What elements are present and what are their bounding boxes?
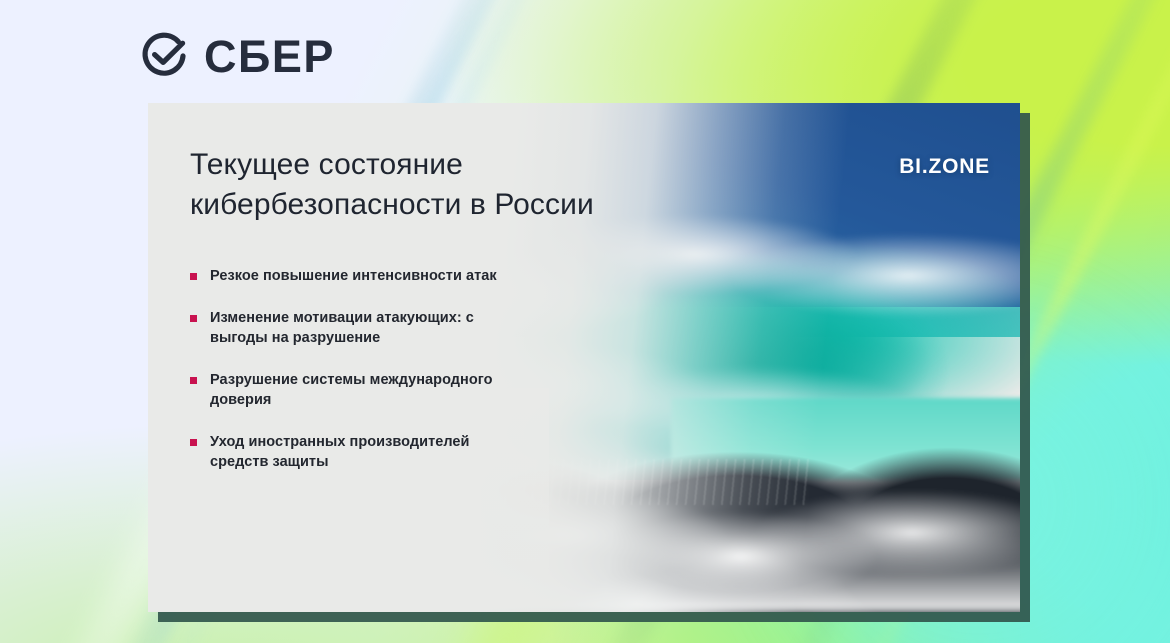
list-item-label: Изменение мотивации атакующих: с выгоды …: [210, 308, 520, 349]
bullet-marker-icon: [190, 315, 197, 322]
bizone-logo: BI.ZONE: [899, 155, 990, 179]
presentation-slide: Текущее состояние кибербезопасности в Ро…: [148, 103, 1020, 612]
sber-wordmark: СБЕР: [204, 34, 335, 79]
bullet-marker-icon: [190, 377, 197, 384]
list-item: Разрушение системы международного довери…: [190, 370, 520, 411]
list-item: Резкое повышение интенсивности атак: [190, 266, 520, 287]
bullet-marker-icon: [190, 439, 197, 446]
slide-content: Текущее состояние кибербезопасности в Ро…: [148, 103, 1020, 612]
bullet-list: Резкое повышение интенсивности атак Изме…: [190, 266, 520, 494]
list-item: Изменение мотивации атакующих: с выгоды …: [190, 308, 520, 349]
list-item-label: Разрушение системы международного довери…: [210, 370, 520, 411]
sber-brand-lockup: СБЕР: [138, 30, 335, 82]
slide-title-line-1: Текущее состояние: [190, 145, 710, 185]
list-item-label: Уход иностранных производителей средств …: [210, 432, 520, 473]
list-item-label: Резкое повышение интенсивности атак: [210, 266, 497, 287]
slide-title: Текущее состояние кибербезопасности в Ро…: [190, 145, 710, 225]
list-item: Уход иностранных производителей средств …: [190, 432, 520, 473]
slide-title-line-2: кибербезопасности в России: [190, 185, 710, 225]
sber-checkmark-circle-icon: [138, 30, 190, 82]
bullet-marker-icon: [190, 273, 197, 280]
